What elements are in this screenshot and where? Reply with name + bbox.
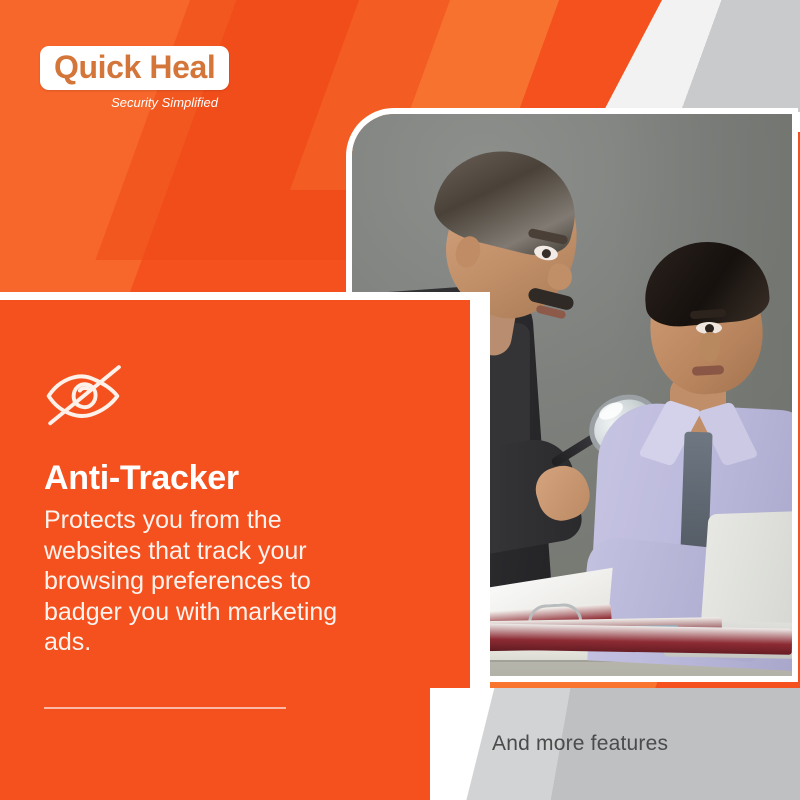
logo-wordmark: Quick Heal [54, 51, 215, 83]
footer-more-features-label: And more features [492, 688, 668, 800]
brand-logo[interactable]: Quick Heal Security Simplified [40, 46, 220, 110]
logo-plate: Quick Heal [40, 46, 229, 90]
colleague-mouth [692, 365, 724, 376]
feature-block: Anti-Tracker Protects you from the websi… [44, 365, 364, 658]
colleague-nose [700, 332, 720, 362]
eye-slash-icon [44, 365, 122, 427]
footer-orange-tip [0, 688, 430, 800]
feature-title: Anti-Tracker [44, 460, 364, 497]
feature-divider-line [44, 707, 286, 709]
feature-description: Protects you from the websites that trac… [44, 505, 354, 658]
footer-bar: And more features [0, 688, 800, 800]
poster-canvas: And more features Quick Heal Security Si… [0, 0, 800, 800]
logo-tagline: Security Simplified [40, 95, 220, 110]
ring-binder-3 [472, 623, 792, 655]
